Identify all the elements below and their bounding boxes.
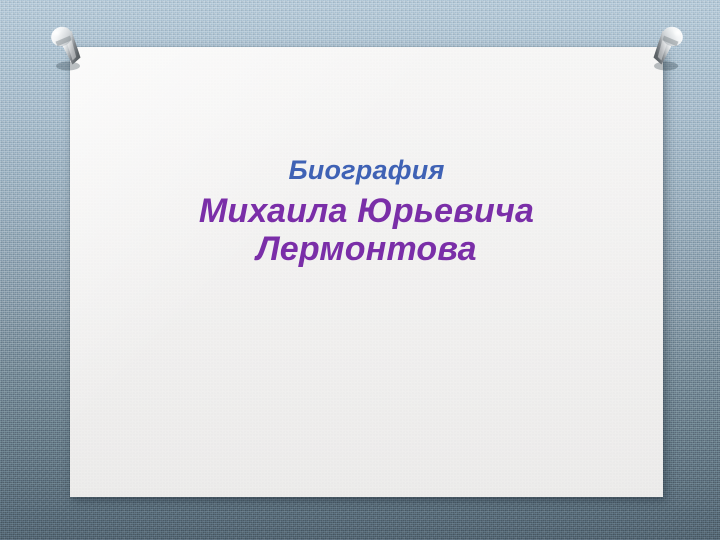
pushpin-icon — [44, 26, 90, 74]
title-line-biografiya: Биография — [70, 155, 663, 185]
presentation-slide: Биография Михаила Юрьевича Лермонтова — [0, 0, 720, 540]
paper-sheen — [70, 47, 663, 497]
pushpin-icon — [644, 26, 690, 74]
slide-title: Биография Михаила Юрьевича Лермонтова — [70, 155, 663, 268]
paper-texture — [70, 47, 663, 497]
title-line-mikhaila-yurevicha: Михаила Юрьевича — [70, 192, 663, 230]
title-line-lermontova: Лермонтова — [70, 230, 663, 268]
paper-card — [70, 47, 663, 497]
